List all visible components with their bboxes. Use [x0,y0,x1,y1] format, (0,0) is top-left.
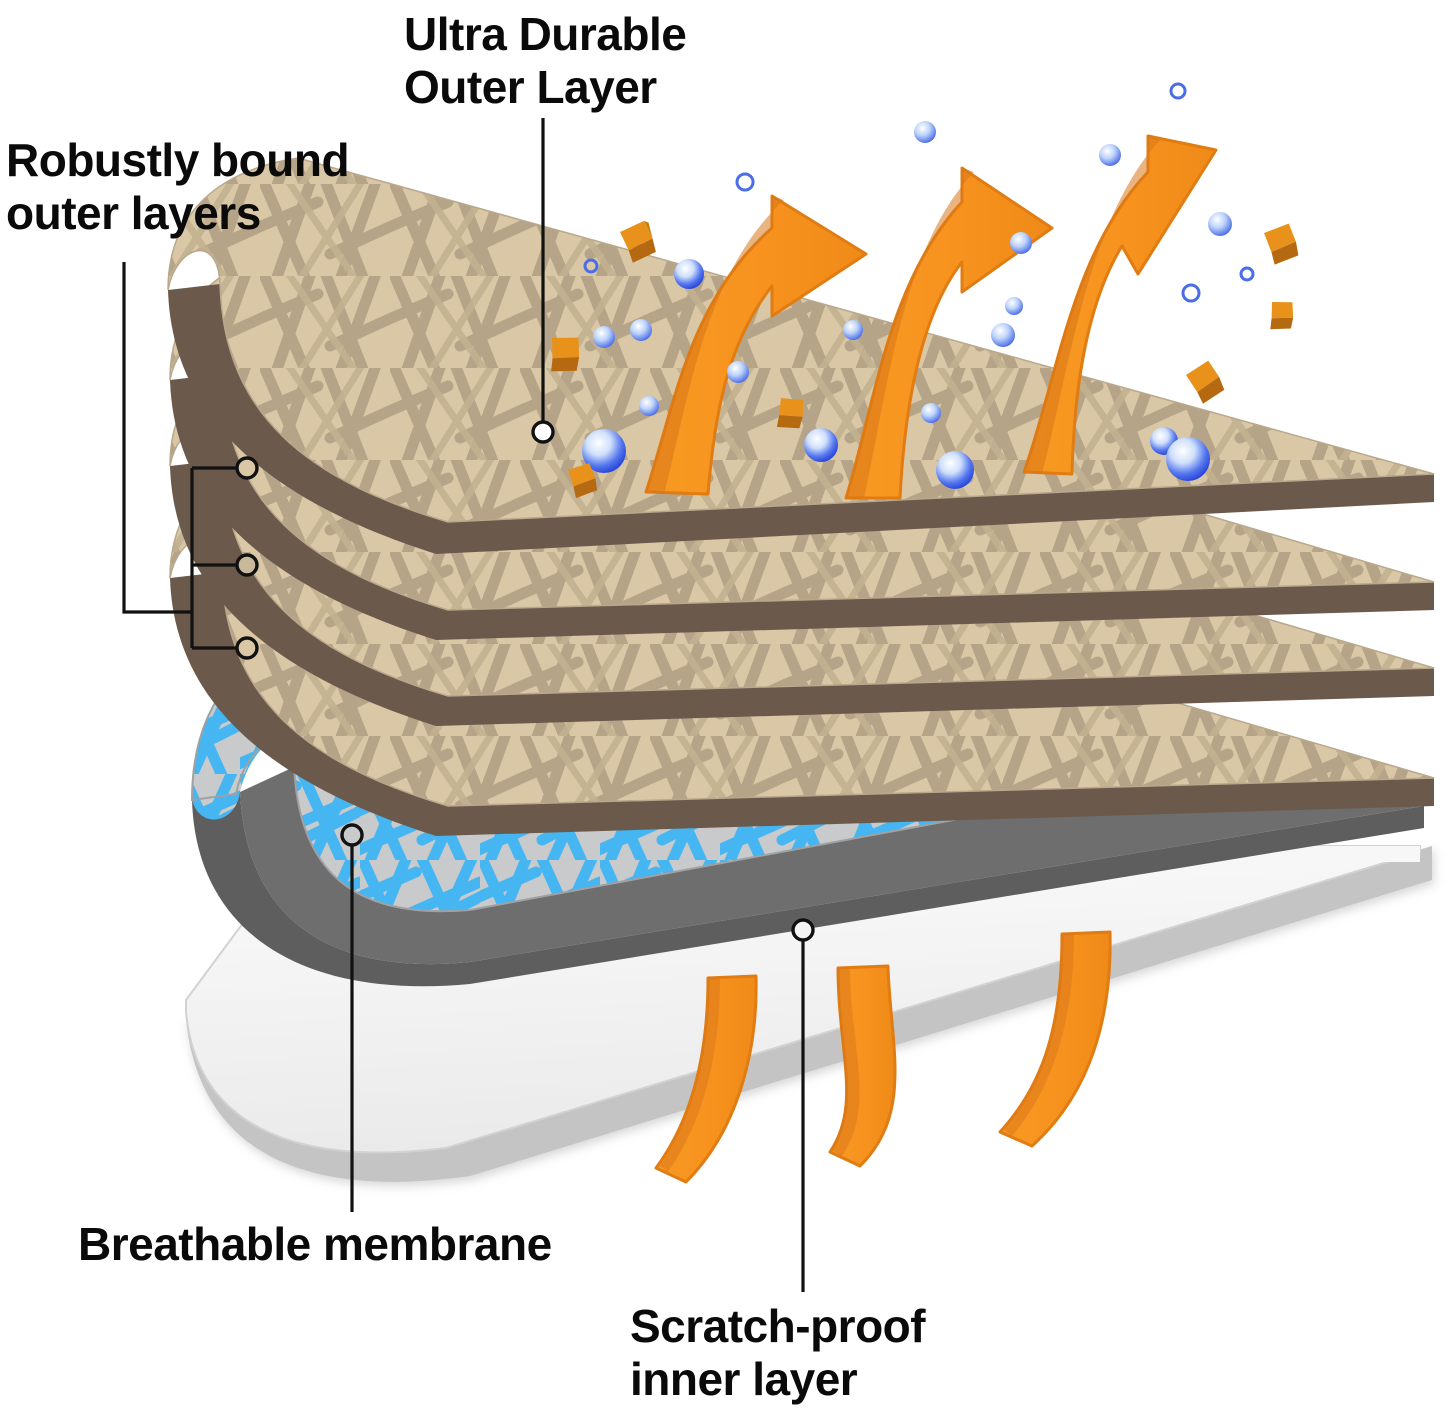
label-breathable-membrane: Breathable membrane [78,1218,552,1271]
callout-dot-ultra-durable [533,422,553,442]
callout-dot-outer-1 [237,458,257,478]
callout-dot-membrane [342,825,362,845]
diagram-canvas: Ultra Durable Outer Layer Robustly bound… [0,0,1445,1410]
callout-dot-scratch-proof [793,920,813,940]
label-ultra-durable-outer-layer: Ultra Durable Outer Layer [404,8,686,115]
callout-dot-outer-3 [237,638,257,658]
label-scratch-proof-inner-layer: Scratch-proof inner layer [630,1300,925,1407]
particle-cube [1263,223,1299,266]
arrow-down-2 [830,966,895,1166]
particle-cube [1266,298,1296,333]
particle-cube [1184,359,1226,405]
callout-dot-outer-2 [237,555,257,575]
label-robustly-bound-outer-layers: Robustly bound outer layers [6,134,349,241]
